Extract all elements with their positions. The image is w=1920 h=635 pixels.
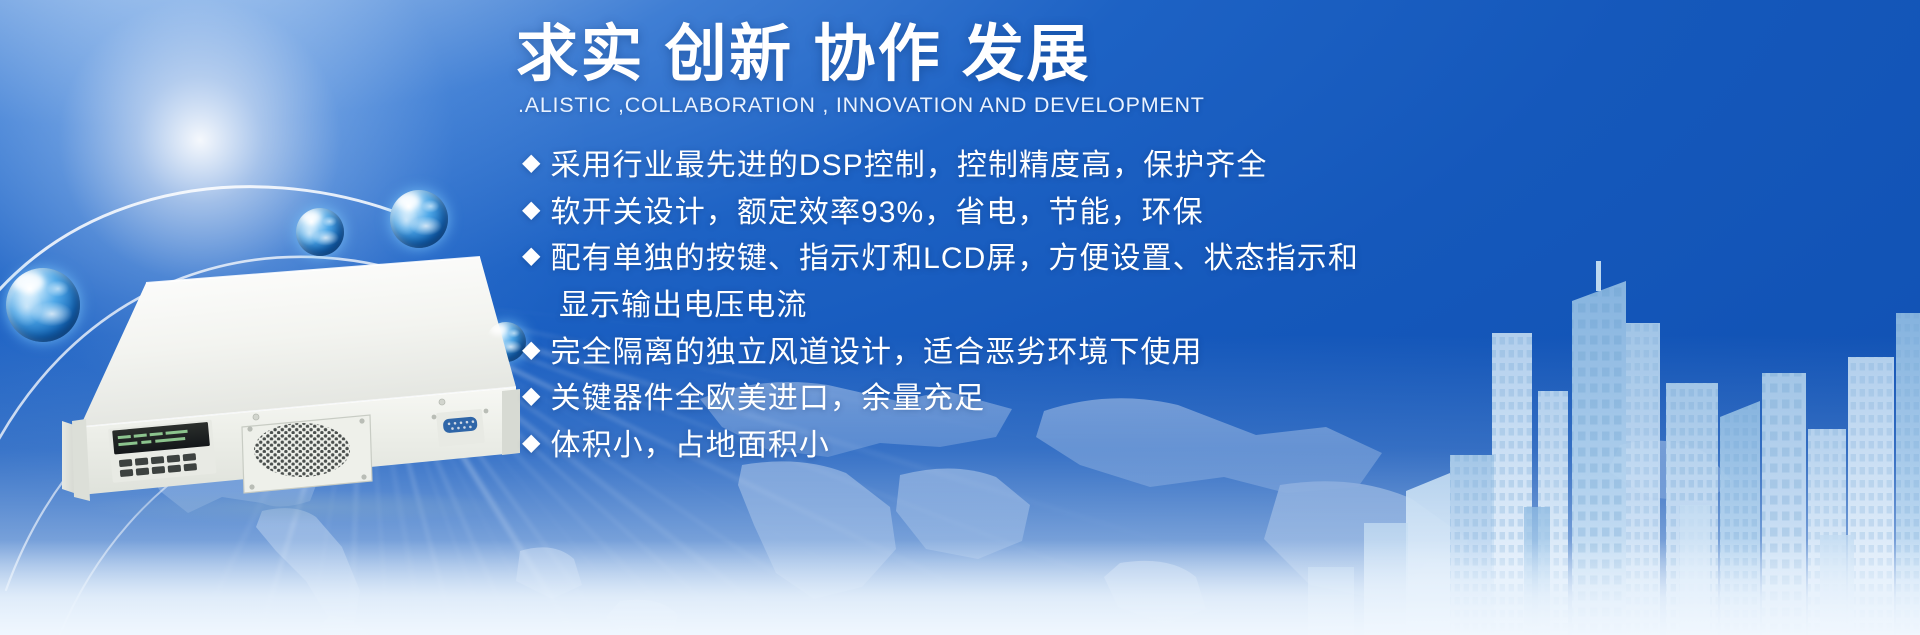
feature-item: ◆采用行业最先进的DSP控制，控制精度高，保护齐全: [522, 144, 1856, 188]
feature-item-label: 采用行业最先进的DSP控制，控制精度高，保护齐全: [551, 144, 1268, 188]
feature-item-label: 配有单独的按键、指示灯和LCD屏，方便设置、状态指示和: [551, 237, 1359, 281]
feature-item: ◆配有单独的按键、指示灯和LCD屏，方便设置、状态指示和: [522, 237, 1856, 281]
feature-item-label: 显示输出电压电流: [559, 284, 807, 328]
light-ray: [76, 294, 365, 635]
light-ray: [336, 295, 365, 635]
diamond-bullet-icon: ◆: [522, 377, 542, 416]
diamond-bullet-icon: ◆: [522, 237, 542, 276]
rackmount-power-supply: [50, 245, 520, 525]
page-title: 求实 创新 协作 发展: [516, 22, 1856, 89]
globe-left-icon: [6, 268, 80, 342]
globe-upper-icon: [296, 208, 344, 256]
diamond-bullet-icon: ◆: [522, 424, 542, 463]
banner-copy: 求实 创新 协作 发展 .ALISTIC ,COLLABORATION , IN…: [516, 22, 1856, 470]
feature-item-label: 关键器件全欧美进口，余量充足: [551, 377, 986, 421]
feature-item: ◆完全隔离的独立风道设计，适合恶劣环境下使用: [522, 331, 1856, 375]
light-ray: [233, 295, 365, 635]
feature-item: ◆关键器件全欧美进口，余量充足: [522, 377, 1856, 421]
light-ray: [363, 295, 434, 635]
diamond-bullet-icon: ◆: [522, 144, 542, 183]
feature-item: 显示输出电压电流: [522, 284, 1856, 328]
feature-list: ◆采用行业最先进的DSP控制，控制精度高，保护齐全◆软开关设计，额定效率93%，…: [522, 144, 1856, 467]
feature-item-label: 软开关设计，额定效率93%，省电，节能，环保: [551, 191, 1204, 235]
feature-item-label: 完全隔离的独立风道设计，适合恶劣环境下使用: [551, 331, 1203, 375]
page-subtitle: .ALISTIC ,COLLABORATION , INNOVATION AND…: [518, 93, 1856, 118]
globe-top-icon: [390, 190, 448, 248]
feature-item: ◆软开关设计，额定效率93%，省电，节能，环保: [522, 191, 1856, 235]
feature-item-label: 体积小，占地面积小: [551, 424, 830, 468]
diamond-bullet-icon: ◆: [522, 191, 542, 230]
diamond-bullet-icon: ◆: [522, 331, 542, 370]
promo-banner: 求实 创新 协作 发展 .ALISTIC ,COLLABORATION , IN…: [0, 0, 1920, 635]
floor-fade: [0, 540, 1920, 635]
light-ray: [56, 293, 365, 635]
feature-item: ◆体积小，占地面积小: [522, 424, 1856, 468]
